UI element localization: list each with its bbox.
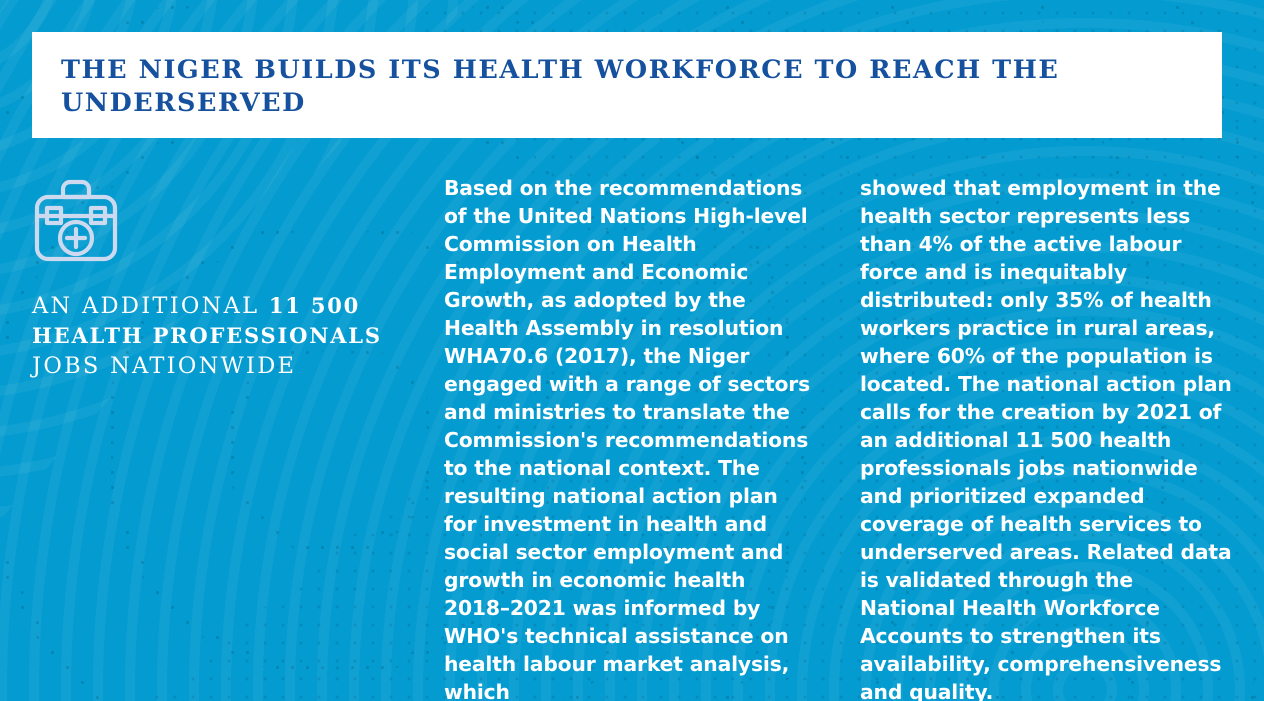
- statistic-line-3: JOBS NATIONWIDE: [32, 351, 432, 381]
- statistic-line-1-prefix: AN ADDITIONAL: [32, 293, 269, 319]
- statistic-line-2: HEALTH PROFESSIONALS: [32, 321, 432, 351]
- body-text-column-2: showed that employment in the health sec…: [860, 174, 1232, 701]
- body-text-column-1: Based on the recommendations of the Unit…: [444, 174, 816, 701]
- statistic-value: 11 500: [269, 293, 360, 318]
- infographic-page: THE NIGER BUILDS ITS HEALTH WORKFORCE TO…: [0, 0, 1264, 701]
- page-title: THE NIGER BUILDS ITS HEALTH WORKFORCE TO…: [61, 54, 1182, 120]
- statistic-text-block: AN ADDITIONAL 11 500 HEALTH PROFESSIONAL…: [32, 291, 432, 381]
- statistic-line-1: AN ADDITIONAL 11 500: [32, 291, 432, 321]
- statistic-panel: AN ADDITIONAL 11 500 HEALTH PROFESSIONAL…: [32, 172, 432, 381]
- title-card: THE NIGER BUILDS ITS HEALTH WORKFORCE TO…: [32, 32, 1222, 138]
- medical-bag-icon: [32, 172, 120, 264]
